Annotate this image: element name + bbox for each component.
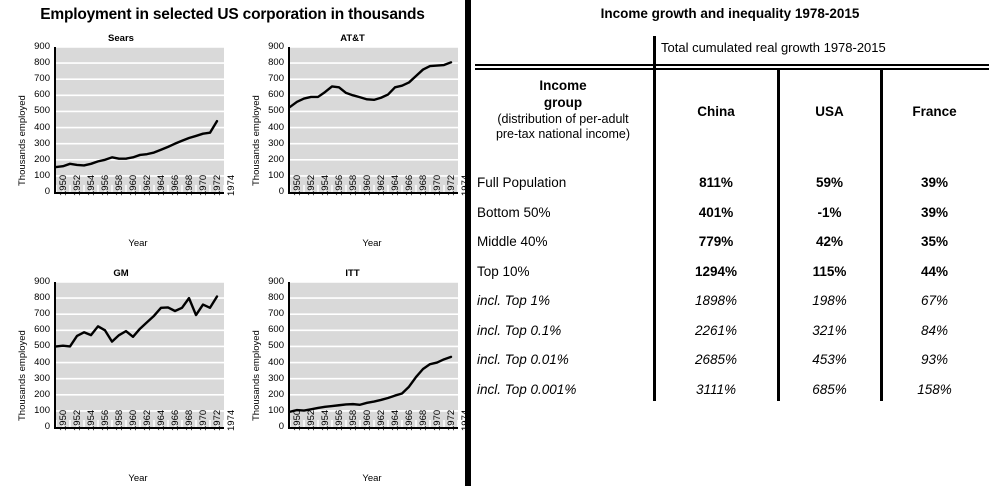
left-panel-title: Employment in selected US corporation in… — [0, 6, 465, 24]
x-tick-at-t-1960: 1960 — [362, 175, 373, 196]
y-tick-at-t-400: 400 — [254, 123, 284, 133]
plot-svg-at-t — [290, 47, 458, 192]
x-tick-sears-1958: 1958 — [114, 175, 125, 196]
x-tick-gm-1952: 1952 — [72, 410, 83, 431]
x-tick-itt-1950: 1950 — [292, 410, 303, 431]
table-span-header: Total cumulated real growth 1978-2015 — [661, 40, 886, 55]
row-value-china: 401% — [656, 205, 776, 220]
chart-att: AT&TThousands employed900800700600500400… — [240, 33, 465, 248]
x-tick-sears-1968: 1968 — [184, 175, 195, 196]
x-tick-itt-1954: 1954 — [320, 410, 331, 431]
x-tick-at-t-1950: 1950 — [292, 175, 303, 196]
column-header-china: China — [656, 104, 776, 119]
x-tick-itt-1956: 1956 — [334, 410, 345, 431]
income-group-header-line2: group — [475, 95, 651, 112]
y-tick-gm-200: 200 — [20, 390, 50, 400]
plot-area-sears — [54, 47, 224, 194]
row-value-usa: 685% — [780, 382, 879, 397]
x-tick-at-t-1964: 1964 — [390, 175, 401, 196]
plot-svg-itt — [290, 282, 458, 427]
row-value-usa: 42% — [780, 234, 879, 249]
plot-area-itt — [288, 282, 458, 429]
y-tick-at-t-100: 100 — [254, 171, 284, 181]
y-tick-at-t-300: 300 — [254, 139, 284, 149]
y-tick-gm-400: 400 — [20, 358, 50, 368]
x-tick-at-t-1966: 1966 — [404, 175, 415, 196]
plot-area-at-t — [288, 47, 458, 194]
x-tick-gm-1966: 1966 — [170, 410, 181, 431]
x-tick-itt-1972: 1972 — [446, 410, 457, 431]
x-tick-gm-1970: 1970 — [198, 410, 209, 431]
row-label: incl. Top 0.001% — [477, 382, 576, 397]
y-tick-gm-300: 300 — [20, 374, 50, 384]
row-value-france: 35% — [883, 234, 986, 249]
y-tick-gm-0: 0 — [20, 422, 50, 432]
y-tick-sears-200: 200 — [20, 155, 50, 165]
x-tick-itt-1968: 1968 — [418, 410, 429, 431]
x-tick-sears-1960: 1960 — [128, 175, 139, 196]
row-label: Bottom 50% — [477, 205, 551, 220]
x-tick-at-t-1956: 1956 — [334, 175, 345, 196]
y-tick-gm-700: 700 — [20, 309, 50, 319]
row-label: Full Population — [477, 175, 566, 190]
column-header-usa: USA — [780, 104, 879, 119]
plot-svg-sears — [56, 47, 224, 192]
column-header-france: France — [883, 104, 986, 119]
chart-itt: ITTThousands employed9008007006005004003… — [240, 268, 465, 486]
x-axis-label-at-t: Year — [288, 238, 456, 249]
row-value-france: 84% — [883, 323, 986, 338]
y-tick-sears-700: 700 — [20, 74, 50, 84]
x-tick-at-t-1972: 1972 — [446, 175, 457, 196]
y-tick-sears-600: 600 — [20, 90, 50, 100]
x-tick-sears-1952: 1952 — [72, 175, 83, 196]
y-tick-gm-100: 100 — [20, 406, 50, 416]
y-tick-itt-900: 900 — [254, 277, 284, 287]
income-table-panel: Income growth and inequality 1978-2015 T… — [471, 0, 989, 486]
row-value-france: 93% — [883, 352, 986, 367]
y-tick-itt-600: 600 — [254, 325, 284, 335]
row-value-china: 1294% — [656, 264, 776, 279]
series-line-at-t — [290, 62, 451, 107]
y-tick-sears-0: 0 — [20, 187, 50, 197]
x-axis-label-gm: Year — [54, 473, 222, 484]
table-title: Income growth and inequality 1978-2015 — [471, 6, 989, 21]
x-tick-gm-1974: 1974 — [226, 410, 237, 431]
row-label: incl. Top 0.01% — [477, 352, 569, 367]
row-label: incl. Top 1% — [477, 293, 550, 308]
x-tick-at-t-1970: 1970 — [432, 175, 443, 196]
row-value-france: 67% — [883, 293, 986, 308]
x-tick-at-t-1958: 1958 — [348, 175, 359, 196]
y-tick-at-t-200: 200 — [254, 155, 284, 165]
row-label: Top 10% — [477, 264, 530, 279]
y-tick-itt-200: 200 — [254, 390, 284, 400]
x-tick-at-t-1968: 1968 — [418, 175, 429, 196]
x-tick-gm-1960: 1960 — [128, 410, 139, 431]
x-tick-sears-1974: 1974 — [226, 175, 237, 196]
row-label: incl. Top 0.1% — [477, 323, 561, 338]
x-tick-at-t-1954: 1954 — [320, 175, 331, 196]
y-tick-at-t-800: 800 — [254, 58, 284, 68]
x-tick-gm-1972: 1972 — [212, 410, 223, 431]
y-tick-itt-500: 500 — [254, 341, 284, 351]
income-group-header: Income group (distribution of per-adult … — [475, 78, 651, 143]
x-tick-itt-1970: 1970 — [432, 410, 443, 431]
row-value-usa: 321% — [780, 323, 879, 338]
x-tick-gm-1964: 1964 — [156, 410, 167, 431]
y-tick-itt-300: 300 — [254, 374, 284, 384]
x-tick-sears-1966: 1966 — [170, 175, 181, 196]
chart-gm: GMThousands employed90080070060050040030… — [6, 268, 236, 486]
row-value-china: 2261% — [656, 323, 776, 338]
row-value-china: 3111% — [656, 382, 776, 397]
row-value-france: 44% — [883, 264, 986, 279]
row-value-usa: -1% — [780, 205, 879, 220]
x-tick-itt-1958: 1958 — [348, 410, 359, 431]
y-tick-itt-700: 700 — [254, 309, 284, 319]
series-line-gm — [56, 297, 217, 347]
chart-sears: SearsThousands employed90080070060050040… — [6, 33, 236, 248]
table-rule-top-2 — [475, 68, 989, 70]
x-tick-sears-1956: 1956 — [100, 175, 111, 196]
y-tick-itt-800: 800 — [254, 293, 284, 303]
employment-charts-panel: Employment in selected US corporation in… — [0, 0, 465, 486]
table-rule-top — [475, 64, 989, 66]
x-tick-at-t-1962: 1962 — [376, 175, 387, 196]
y-tick-at-t-600: 600 — [254, 90, 284, 100]
row-value-china: 779% — [656, 234, 776, 249]
row-value-china: 811% — [656, 175, 776, 190]
plot-area-gm — [54, 282, 224, 429]
y-tick-sears-300: 300 — [20, 139, 50, 149]
row-value-china: 1898% — [656, 293, 776, 308]
y-tick-at-t-700: 700 — [254, 74, 284, 84]
x-tick-sears-1972: 1972 — [212, 175, 223, 196]
x-tick-sears-1962: 1962 — [142, 175, 153, 196]
income-group-header-line4: pre-tax national income) — [475, 127, 651, 143]
y-tick-gm-600: 600 — [20, 325, 50, 335]
x-tick-itt-1962: 1962 — [376, 410, 387, 431]
x-tick-itt-1960: 1960 — [362, 410, 373, 431]
row-value-france: 39% — [883, 205, 986, 220]
x-tick-sears-1954: 1954 — [86, 175, 97, 196]
y-tick-at-t-500: 500 — [254, 106, 284, 116]
x-tick-itt-1966: 1966 — [404, 410, 415, 431]
x-tick-gm-1962: 1962 — [142, 410, 153, 431]
y-tick-sears-900: 900 — [20, 42, 50, 52]
y-tick-sears-400: 400 — [20, 123, 50, 133]
y-tick-sears-500: 500 — [20, 106, 50, 116]
row-value-usa: 59% — [780, 175, 879, 190]
x-tick-itt-1952: 1952 — [306, 410, 317, 431]
x-tick-gm-1968: 1968 — [184, 410, 195, 431]
x-axis-label-sears: Year — [54, 238, 222, 249]
x-tick-gm-1954: 1954 — [86, 410, 97, 431]
x-tick-sears-1964: 1964 — [156, 175, 167, 196]
row-value-usa: 453% — [780, 352, 879, 367]
plot-svg-gm — [56, 282, 224, 427]
row-value-usa: 115% — [780, 264, 879, 279]
x-tick-itt-1964: 1964 — [390, 410, 401, 431]
x-tick-sears-1970: 1970 — [198, 175, 209, 196]
y-tick-sears-100: 100 — [20, 171, 50, 181]
income-group-header-line1: Income — [475, 78, 651, 95]
y-tick-itt-0: 0 — [254, 422, 284, 432]
x-tick-gm-1956: 1956 — [100, 410, 111, 431]
y-tick-itt-100: 100 — [254, 406, 284, 416]
y-tick-sears-800: 800 — [20, 58, 50, 68]
y-tick-gm-500: 500 — [20, 341, 50, 351]
y-tick-at-t-900: 900 — [254, 42, 284, 52]
x-tick-sears-1950: 1950 — [58, 175, 69, 196]
screenshot-root: Employment in selected US corporation in… — [0, 0, 989, 486]
row-value-france: 158% — [883, 382, 986, 397]
y-tick-itt-400: 400 — [254, 358, 284, 368]
row-value-usa: 198% — [780, 293, 879, 308]
x-tick-gm-1950: 1950 — [58, 410, 69, 431]
x-axis-label-itt: Year — [288, 473, 456, 484]
x-tick-at-t-1952: 1952 — [306, 175, 317, 196]
row-value-china: 2685% — [656, 352, 776, 367]
x-tick-gm-1958: 1958 — [114, 410, 125, 431]
row-label: Middle 40% — [477, 234, 548, 249]
series-line-itt — [290, 357, 451, 412]
row-value-france: 39% — [883, 175, 986, 190]
income-group-header-line3: (distribution of per-adult — [475, 112, 651, 128]
y-tick-gm-900: 900 — [20, 277, 50, 287]
y-tick-gm-800: 800 — [20, 293, 50, 303]
y-tick-at-t-0: 0 — [254, 187, 284, 197]
